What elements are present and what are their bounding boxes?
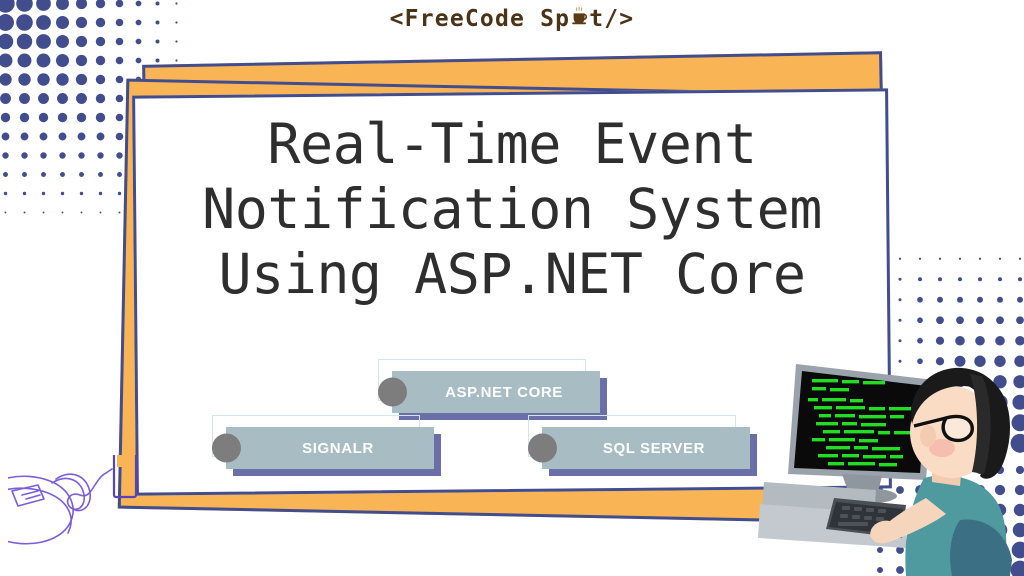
terminal-code-screen bbox=[794, 371, 927, 473]
brand-logo: <FreeCode Sp t/> bbox=[0, 6, 1024, 32]
badge-bullet-icon bbox=[528, 434, 557, 463]
badge-label: SQL SERVER bbox=[587, 440, 705, 457]
slide-title: Real-Time Event Notification System Usin… bbox=[150, 112, 874, 307]
badge-body: SIGNALR bbox=[226, 427, 434, 469]
title-line-3: Using ASP.NET Core bbox=[150, 242, 874, 307]
badge-bullet-icon bbox=[378, 378, 407, 407]
badge-bullet-icon bbox=[212, 434, 241, 463]
badge-label: SIGNALR bbox=[286, 440, 374, 457]
title-line-2: Notification System bbox=[150, 177, 874, 242]
badge-body: SQL SERVER bbox=[542, 427, 750, 469]
tech-badge-signalr[interactable]: SIGNALR bbox=[226, 427, 434, 469]
tech-badge-aspnet-core[interactable]: ASP.NET CORE bbox=[392, 371, 600, 413]
badge-body: ASP.NET CORE bbox=[392, 371, 600, 413]
title-line-1: Real-Time Event bbox=[150, 112, 874, 177]
brand-prefix: <FreeCode Sp bbox=[390, 6, 571, 32]
tech-badge-sql-server[interactable]: SQL SERVER bbox=[542, 427, 750, 469]
person-at-computer-illustration bbox=[756, 352, 1024, 576]
coffee-cup-icon bbox=[569, 6, 590, 27]
computer-mouse-icon bbox=[8, 455, 158, 576]
badge-label: ASP.NET CORE bbox=[429, 384, 563, 401]
brand-suffix: t/> bbox=[589, 6, 634, 32]
slide-canvas: <FreeCode Sp t/> Real-Time Event Notific… bbox=[0, 0, 1024, 576]
